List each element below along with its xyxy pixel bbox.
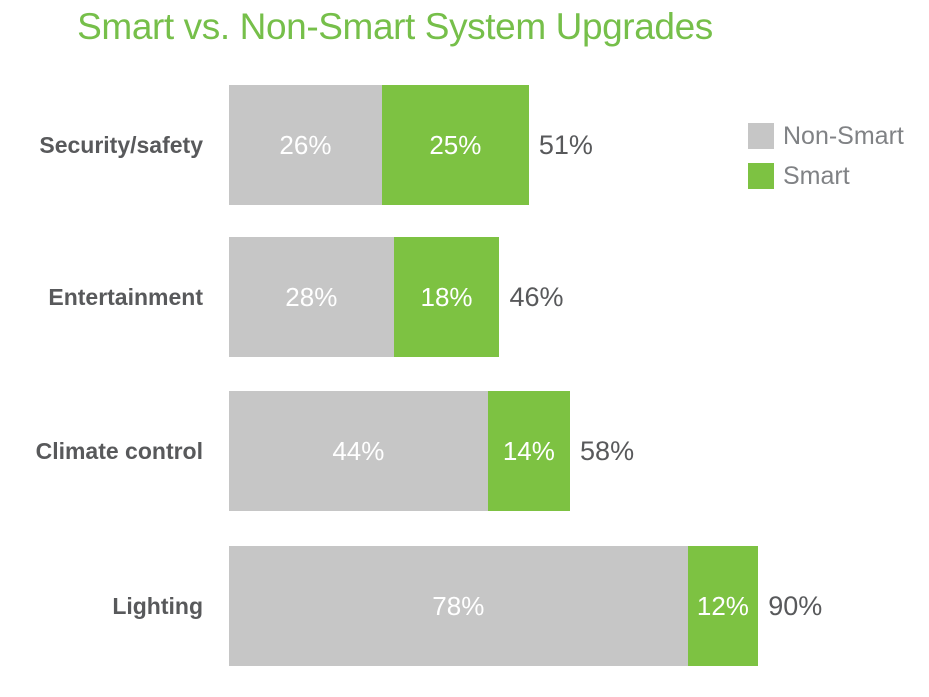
bar-segment-non-smart: 28% bbox=[229, 237, 394, 357]
stacked-bar: 28%18% bbox=[229, 237, 499, 357]
category-label: Lighting bbox=[0, 546, 203, 666]
stacked-bar: 44%14% bbox=[229, 391, 570, 511]
bar-segment-smart: 25% bbox=[382, 85, 529, 205]
bar-segment-smart: 12% bbox=[688, 546, 759, 666]
category-label: Climate control bbox=[0, 391, 203, 511]
bar-segment-non-smart: 44% bbox=[229, 391, 488, 511]
chart-plot-area: Security/safety26%25%51%Entertainment28%… bbox=[0, 0, 929, 697]
bar-total-label: 46% bbox=[499, 237, 563, 357]
stacked-bar: 78%12% bbox=[229, 546, 758, 666]
bar-row: Entertainment28%18%46% bbox=[0, 237, 929, 357]
legend-label: Non-Smart bbox=[783, 122, 904, 151]
bar-total-label: 90% bbox=[758, 546, 822, 666]
category-label: Entertainment bbox=[0, 237, 203, 357]
bar-total-label: 51% bbox=[529, 85, 593, 205]
legend-entry[interactable]: Non-Smart bbox=[748, 116, 904, 156]
bar-segment-smart: 14% bbox=[488, 391, 570, 511]
bar-row: Climate control44%14%58% bbox=[0, 391, 929, 511]
bar-row: Lighting78%12%90% bbox=[0, 546, 929, 666]
stacked-bar: 26%25% bbox=[229, 85, 529, 205]
category-label: Security/safety bbox=[0, 85, 203, 205]
bar-segment-non-smart: 78% bbox=[229, 546, 688, 666]
bar-total-label: 58% bbox=[570, 391, 634, 511]
legend-swatch-icon bbox=[748, 123, 774, 149]
bar-segment-smart: 18% bbox=[394, 237, 500, 357]
chart-legend: Non-SmartSmart bbox=[748, 116, 904, 196]
legend-swatch-icon bbox=[748, 163, 774, 189]
legend-entry[interactable]: Smart bbox=[748, 156, 904, 196]
legend-label: Smart bbox=[783, 162, 850, 191]
bar-segment-non-smart: 26% bbox=[229, 85, 382, 205]
